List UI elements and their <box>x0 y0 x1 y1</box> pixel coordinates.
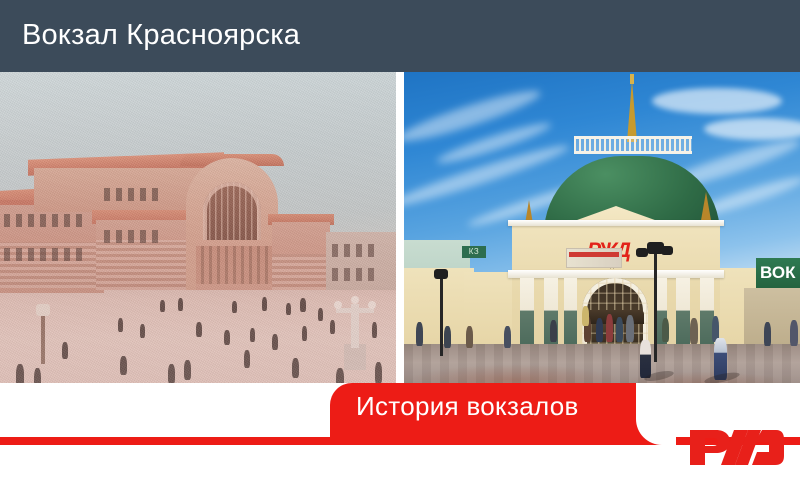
modern-pedestrian <box>504 326 511 348</box>
kz-sign: КЗ <box>462 246 486 258</box>
modern-column <box>564 278 577 348</box>
cloud <box>652 88 782 114</box>
historic-pedestrian <box>292 358 299 378</box>
modern-pedestrian <box>582 306 589 326</box>
modern-column <box>676 278 690 348</box>
modern-pedestrian <box>444 326 451 348</box>
modern-pedestrian <box>606 314 613 342</box>
historic-pedestrian <box>300 298 306 312</box>
historic-pedestrian <box>372 322 377 338</box>
banner-base-strip <box>0 437 800 445</box>
historic-pedestrian <box>178 298 183 311</box>
modern-lamp-head <box>661 246 673 255</box>
historic-pedestrian <box>62 342 68 359</box>
photo-comparison-row: КЗ ВОК РЖД РЖД <box>0 72 800 383</box>
historic-pedestrian <box>118 318 123 332</box>
page-title: Вокзал Красноярска <box>22 19 300 52</box>
historic-pedestrian <box>34 368 41 383</box>
modern-pedestrian <box>466 326 473 348</box>
modern-column <box>520 278 534 348</box>
historic-lamp-globe <box>334 301 342 309</box>
photo-divider <box>396 72 404 383</box>
historic-portico-columns <box>196 246 272 284</box>
modern-pedestrian <box>790 320 798 346</box>
historic-pedestrian <box>336 368 344 383</box>
modern-pedestrian <box>690 318 698 344</box>
historic-pedestrian <box>286 303 291 315</box>
modern-spire-tip <box>630 74 634 84</box>
historic-lamp-globe <box>351 296 359 304</box>
historic-pedestrian <box>262 297 267 311</box>
modern-pedestrian <box>626 315 634 342</box>
historic-window-row <box>332 244 374 257</box>
historic-window-row <box>4 214 82 227</box>
historic-window-row <box>104 230 158 243</box>
modern-pedestrian <box>416 322 423 346</box>
historic-pedestrian <box>184 360 191 380</box>
historic-pedestrian <box>318 308 323 321</box>
slide-root: Вокзал Красноярска <box>0 0 800 500</box>
modern-lamp-head <box>434 269 448 279</box>
banner-right-curve <box>636 383 676 445</box>
modern-pedestrian <box>764 322 771 346</box>
rzd-logo <box>688 418 784 468</box>
modern-pedestrian-foreground <box>640 340 651 378</box>
modern-cornice <box>508 270 724 278</box>
facade-advert-banner <box>566 248 622 268</box>
modern-upper-cornice <box>508 220 724 226</box>
photo-historic-station <box>0 72 396 383</box>
historic-lamp-post <box>41 312 45 364</box>
historic-window-row <box>104 188 158 201</box>
historic-window-row <box>332 268 374 281</box>
historic-pedestrian <box>375 362 382 383</box>
historic-right-rustication <box>272 254 330 290</box>
modern-plaza <box>404 344 800 383</box>
modern-golden-spire <box>627 80 637 142</box>
modern-plaza-paving <box>404 344 800 383</box>
historic-pedestrian <box>232 301 237 313</box>
historic-pedestrian <box>196 322 202 337</box>
historic-pedestrian <box>330 320 335 334</box>
historic-lamp-head <box>36 304 50 316</box>
historic-pedestrian <box>224 330 230 345</box>
banner-label: История вокзалов <box>356 391 579 422</box>
modern-roof-balustrade <box>574 136 692 154</box>
historic-portico <box>196 240 272 290</box>
rzd-logo-mark <box>688 418 784 468</box>
historic-pedestrian <box>272 334 278 350</box>
modern-pedestrian <box>662 318 669 342</box>
modern-lamp-post <box>440 276 443 356</box>
modern-pedestrian <box>596 318 603 342</box>
historic-pedestrian <box>244 350 250 368</box>
historic-pedestrian <box>250 328 255 342</box>
slide-header: Вокзал Красноярска <box>0 0 800 72</box>
historic-pedestrian <box>16 364 24 383</box>
historic-pedestrian <box>120 356 127 375</box>
historic-window-row <box>4 248 82 261</box>
historic-pedestrian <box>160 300 165 312</box>
historic-pedestrian <box>302 326 307 341</box>
modern-entrance-canopy <box>586 310 644 324</box>
modern-lamp-head <box>636 248 648 257</box>
modern-lamp-post <box>654 250 657 362</box>
photo-modern-station: КЗ ВОК РЖД РЖД <box>404 72 800 383</box>
slide-footer <box>0 445 800 500</box>
modern-pedestrian <box>616 317 623 342</box>
historic-pedestrian <box>140 324 145 338</box>
historic-lamp-globe <box>368 301 376 309</box>
modern-pedestrian <box>550 320 557 342</box>
historic-pedestrian <box>168 364 175 383</box>
vokzal-sign: ВОК <box>756 258 800 288</box>
historic-background-buildings <box>326 232 396 290</box>
historic-monument-crossarm <box>336 308 374 313</box>
